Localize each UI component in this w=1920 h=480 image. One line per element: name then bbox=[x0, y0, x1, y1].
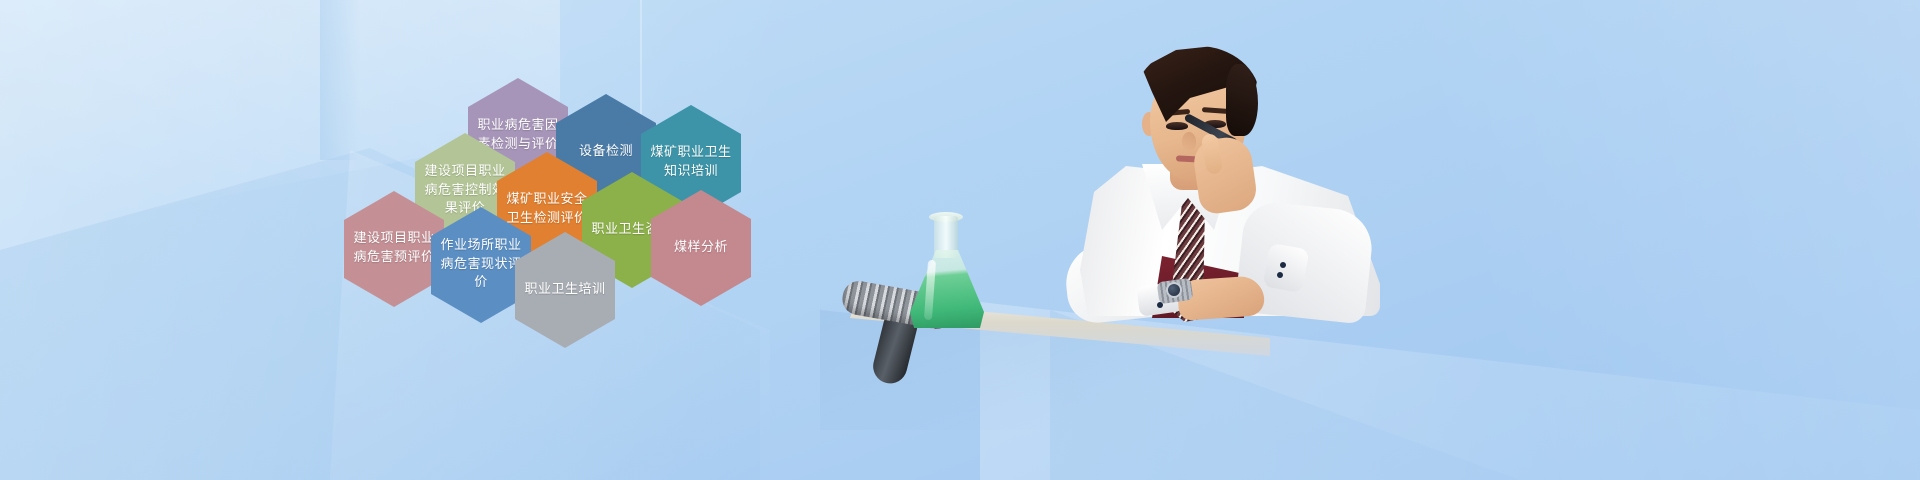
hexagon-label: 建设项目职业病危害控制效果评价 bbox=[423, 163, 507, 220]
flask-body-green-liquid bbox=[910, 250, 984, 328]
service-hexagon-cluster: 职业病危害因素检测与评价建设项目职业病危害控制效果评价设备检测煤矿职业卫生知识培… bbox=[0, 0, 800, 400]
wristwatch-face bbox=[1166, 282, 1182, 298]
right-cuff bbox=[1262, 243, 1309, 293]
cuff-button bbox=[1280, 262, 1286, 268]
hexagon-label: 煤矿职业卫生知识培训 bbox=[649, 144, 733, 182]
hexagon-label: 煤样分析 bbox=[674, 239, 728, 258]
hexagon-label: 职业卫生培训 bbox=[524, 281, 605, 300]
banner-root: 职业病危害因素检测与评价建设项目职业病危害控制效果评价设备检测煤矿职业卫生知识培… bbox=[0, 0, 1920, 480]
left-eye bbox=[1166, 122, 1188, 130]
raised-hand bbox=[1191, 134, 1259, 215]
cuff-button bbox=[1277, 272, 1283, 278]
hexagon-label: 建设项目职业病危害预评价 bbox=[352, 230, 436, 268]
businessman-with-flask-photo bbox=[1030, 34, 1460, 354]
hexagon-label: 作业场所职业病危害现状评价 bbox=[439, 237, 523, 294]
hexagon-label: 设备检测 bbox=[579, 143, 633, 162]
hexagon-label: 煤矿职业安全卫生检测评价 bbox=[505, 191, 589, 229]
nose bbox=[1182, 132, 1196, 150]
erlenmeyer-flask bbox=[910, 216, 984, 326]
